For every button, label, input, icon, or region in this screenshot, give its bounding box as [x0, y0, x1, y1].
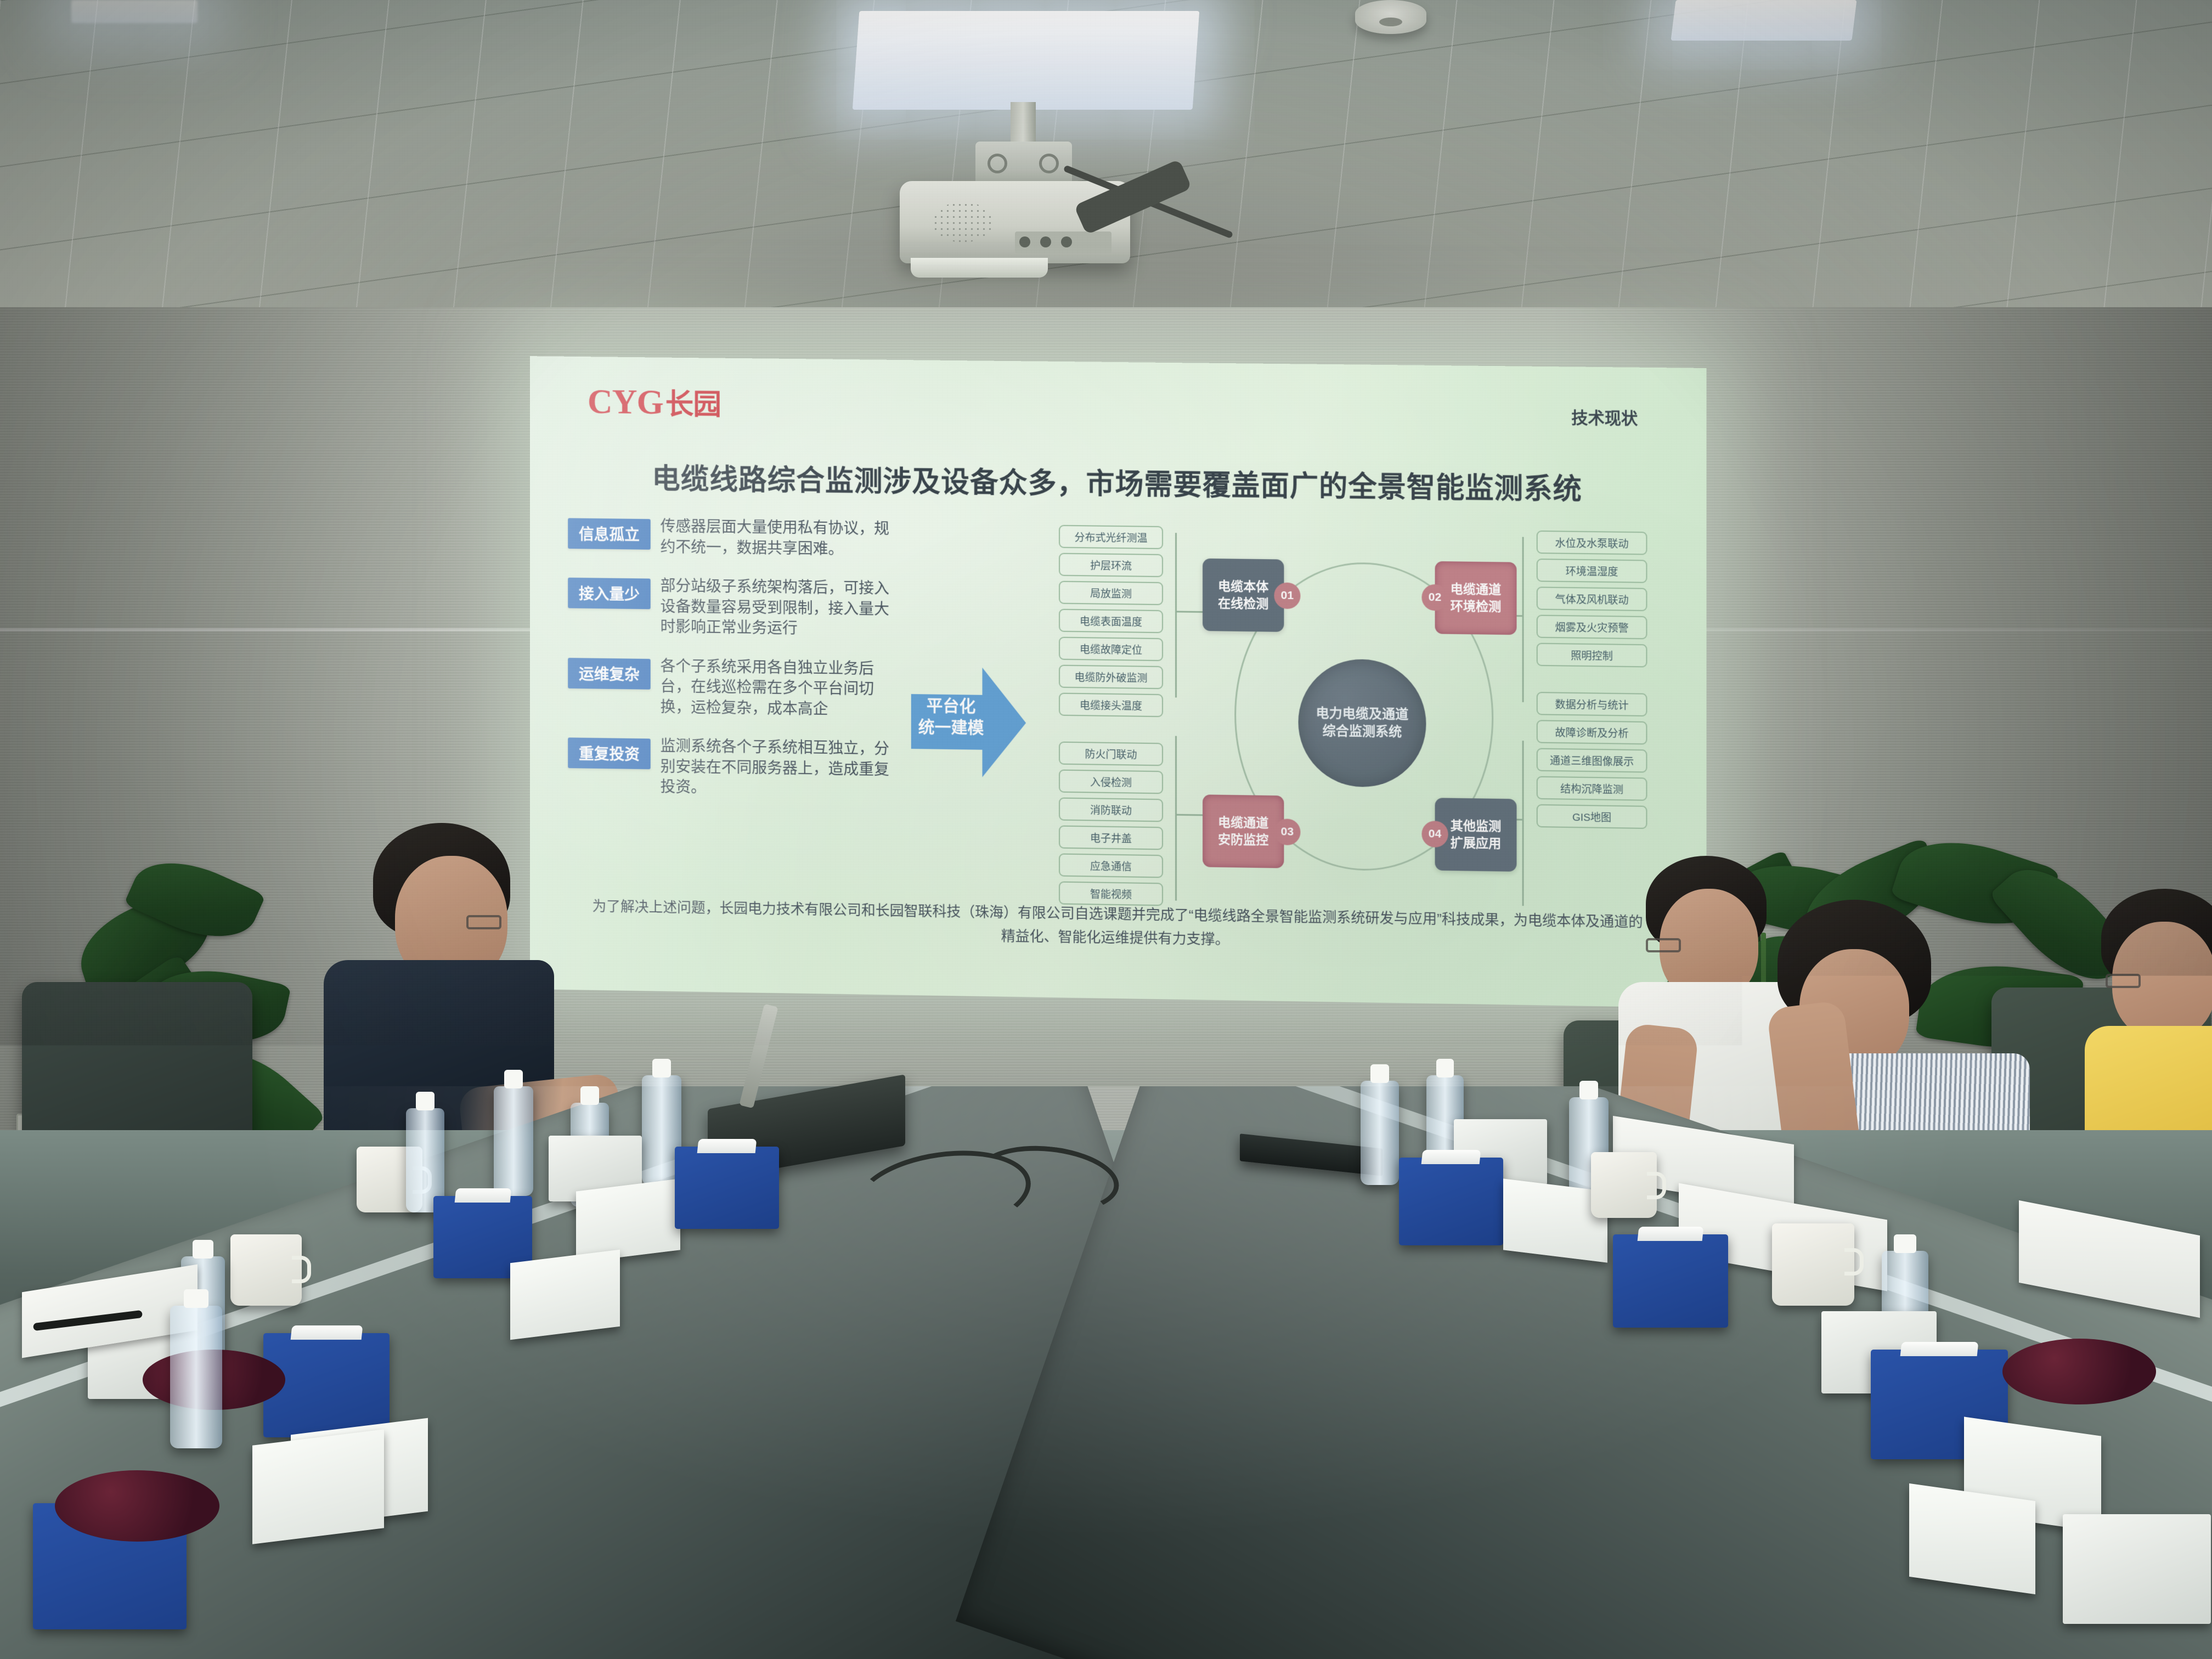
napkin-box[interactable] [2063, 1514, 2211, 1624]
slide-section-tag: 技术现状 [1571, 404, 1638, 429]
tag-item: 故障诊断及分析 [1537, 720, 1647, 744]
fern-leaf [951, 1538, 1145, 1645]
arrow-label: 平台化 统一建模 [916, 695, 987, 739]
node-label-line2: 扩展应用 [1451, 834, 1502, 852]
ceiling [0, 0, 2212, 329]
node-number-01: 01 [1274, 583, 1300, 610]
table-name-card [576, 1178, 680, 1262]
issue-item: 重复投资 监测系统各个子系统相互独立，分别安装在不同服务器上，造成重复投资。 [568, 735, 906, 801]
tag-item: 消防联动 [1059, 798, 1163, 822]
issue-text: 部分站级子系统架构落后，可接入设备数量容易受到限制，接入量大时影响正常业务运行 [661, 575, 895, 640]
tag-item: 电缆接头温度 [1059, 693, 1163, 718]
ceiling-shading [0, 0, 2212, 329]
issue-text: 传感器层面大量使用私有协议，规约不统一，数据共享困难。 [661, 516, 895, 560]
tag-item: 照明控制 [1537, 643, 1647, 668]
flower-arrangement [724, 1064, 1426, 1659]
table-name-card [510, 1250, 620, 1340]
tag-item: 水位及水泵联动 [1537, 531, 1647, 555]
orchid-flower [1009, 1470, 1092, 1542]
tag-item: 数据分析与统计 [1537, 692, 1647, 716]
rose-flower [944, 1328, 1053, 1426]
orchid-flower [757, 1350, 828, 1415]
table-name-card [252, 1429, 384, 1544]
flower-bud [861, 1190, 880, 1215]
tag-item: 应急通信 [1059, 853, 1163, 878]
node-label-line2: 环境检测 [1451, 598, 1502, 616]
tag-item: 电子井盖 [1059, 826, 1163, 850]
center-diagram: 电缆本体 在线检测 01 电缆通道 环境检测 02 电缆通道 安防监控 03 [1190, 528, 1532, 912]
core-label-line2: 综合监测系统 [1316, 723, 1409, 742]
issue-list: 信息孤立 传感器层面大量使用私有协议，规约不统一，数据共享困难。 接入量少 部分… [568, 515, 906, 819]
tag-item: 防火门联动 [1059, 742, 1163, 766]
node-number-03: 03 [1274, 819, 1300, 845]
tag-item: 气体及风机联动 [1537, 586, 1647, 611]
issue-item: 运维复杂 各个子系统采用各自独立业务后台，在线巡检需在多个平台间切换，运检复杂，… [568, 654, 906, 720]
rose-flower [850, 1245, 916, 1308]
flower-bud [1333, 1284, 1352, 1308]
issue-badge: 运维复杂 [568, 658, 651, 690]
projector-lens [911, 258, 1048, 278]
tag-item: 烟雾及火灾预警 [1537, 615, 1647, 640]
node-label-line2: 在线检测 [1218, 595, 1268, 612]
water-bottle[interactable] [170, 1306, 222, 1448]
issue-badge: 接入量少 [568, 578, 651, 610]
table-name-card [1909, 1483, 2035, 1594]
tissue-box[interactable] [1613, 1234, 1728, 1328]
connector-rail [1175, 533, 1177, 697]
core-label-line1: 电力电缆及通道 [1316, 704, 1409, 724]
tag-item: 电缆表面温度 [1059, 609, 1163, 633]
lidded-tea-cup[interactable] [1772, 1223, 1854, 1306]
grape-bowl [55, 1470, 219, 1542]
lidded-tea-cup[interactable] [1591, 1152, 1657, 1218]
eyeglasses-icon [1646, 938, 1681, 952]
issue-text: 监测系统各个子系统相互独立，分别安装在不同服务器上，造成重复投资。 [661, 736, 895, 800]
issue-badge: 信息孤立 [568, 518, 651, 550]
arrow-label-line2: 统一建模 [916, 716, 987, 739]
tag-item: 电缆故障定位 [1059, 637, 1163, 661]
tag-item: 结构沉降监测 [1537, 776, 1647, 801]
company-logo: CYG 长园 [588, 384, 721, 420]
issue-badge: 重复投资 [568, 737, 651, 769]
tag-item: 护层环流 [1059, 553, 1163, 577]
platform-arrow: 平台化 统一建模 [911, 667, 1026, 778]
diagram-node-01: 电缆本体 在线检测 [1203, 558, 1284, 632]
node-number-04: 04 [1421, 821, 1448, 848]
issue-item: 接入量少 部分站级子系统架构落后，可接入设备数量容易受到限制，接入量大时影响正常… [568, 574, 906, 640]
connector-rail [1175, 736, 1177, 900]
node-label-line1: 电缆通道 [1218, 814, 1268, 832]
issue-item: 信息孤立 传感器层面大量使用私有协议，规约不统一，数据共享困难。 [568, 515, 906, 560]
eyeglasses-icon [466, 915, 501, 929]
grape-bowl [2002, 1339, 2156, 1404]
tag-column-left: 分布式光纤测温 护层环流 局放监测 电缆表面温度 电缆故障定位 电缆防外破监测 … [1059, 525, 1163, 906]
node-label-line1: 其他监测 [1451, 817, 1502, 835]
tag-item: 局放监测 [1059, 581, 1163, 605]
projector-ports [1015, 232, 1111, 253]
tag-item: 环境温湿度 [1537, 558, 1647, 583]
logo-latin-text: CYG [588, 384, 663, 420]
logo-chinese-text: 长园 [665, 390, 721, 419]
flower-bud [1306, 1229, 1324, 1253]
rose-flower [1086, 1393, 1180, 1476]
tag-item: GIS地图 [1537, 804, 1647, 829]
diagram-node-03: 电缆通道 安防监控 [1203, 794, 1284, 868]
tag-item: 入侵检测 [1059, 770, 1163, 794]
projector-vent [933, 202, 993, 242]
flower-bud [982, 1114, 1002, 1140]
tag-column-right: 水位及水泵联动 环境温湿度 气体及风机联动 烟雾及火灾预警 照明控制 数据分析与… [1537, 531, 1647, 829]
photo-scene: CYG 长园 技术现状 电缆线路综合监测涉及设备众多，市场需要覆盖面广的全景智能… [0, 0, 2212, 1659]
rose-flower [911, 1229, 1004, 1311]
projected-slide: CYG 长园 技术现状 电缆线路综合监测涉及设备众多，市场需要覆盖面广的全景智能… [530, 356, 1707, 1008]
diagram-core: 电力电缆及通道 综合监测系统 [1298, 658, 1426, 788]
water-bottle[interactable] [494, 1086, 533, 1196]
slide-title: 电缆线路综合监测涉及设备众多，市场需要覆盖面广的全景智能监测系统 [530, 454, 1707, 509]
tag-item: 分布式光纤测温 [1059, 525, 1163, 549]
tag-item: 电缆防外破监测 [1059, 665, 1163, 689]
node-number-02: 02 [1421, 584, 1448, 611]
node-label-line2: 安防监控 [1218, 831, 1268, 849]
node-label-line1: 电缆本体 [1218, 578, 1268, 595]
flower-bud [1251, 1196, 1269, 1220]
node-label-line1: 电缆通道 [1451, 580, 1502, 598]
issue-text: 各个子系统采用各自独立业务后台，在线巡检需在多个平台间切换，运检复杂，成本高企 [661, 656, 895, 720]
orchid-flower [1278, 1404, 1355, 1470]
eyeglasses-icon [2106, 974, 2141, 988]
lidded-tea-cup[interactable] [230, 1234, 302, 1306]
tag-item: 通道三维图像展示 [1537, 748, 1647, 772]
arrow-label-line1: 平台化 [916, 695, 987, 718]
